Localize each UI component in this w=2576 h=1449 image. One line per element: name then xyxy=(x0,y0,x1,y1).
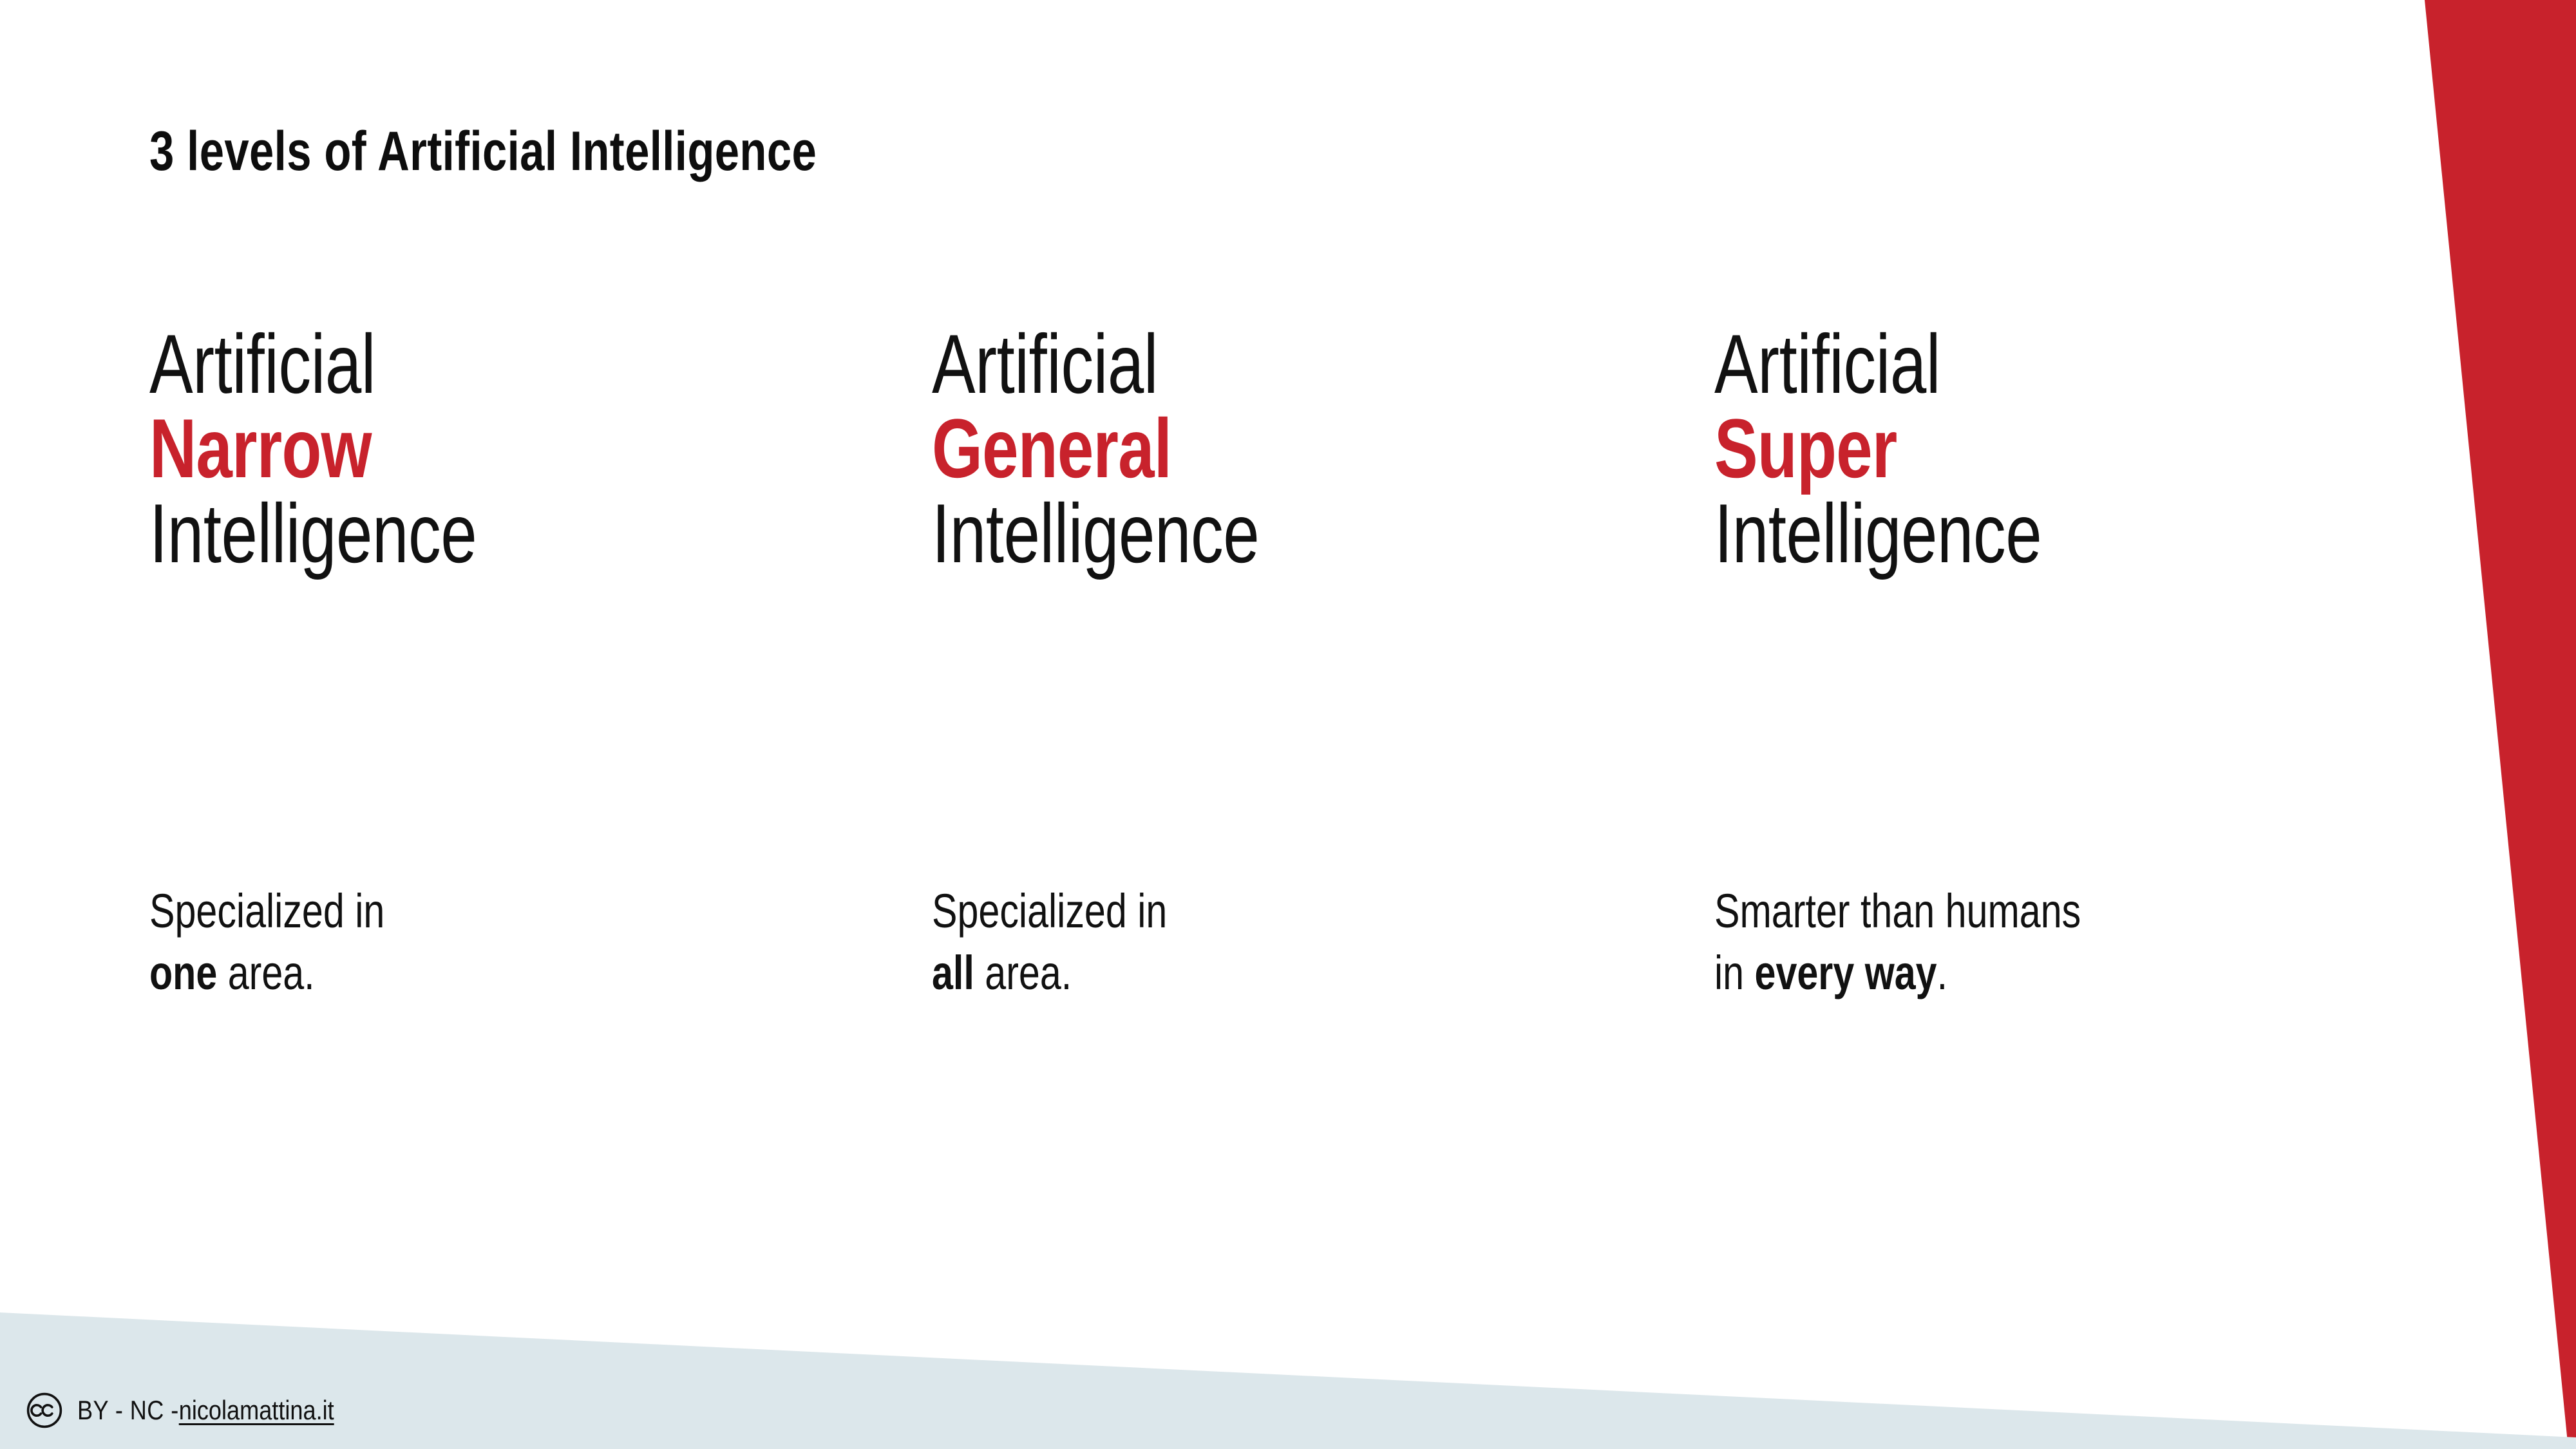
level-column-general: Artificial General Intelligence Speciali… xyxy=(932,0,1711,1449)
description-tail: area. xyxy=(217,946,314,999)
heading-line-accent: General xyxy=(932,406,1685,491)
slide-canvas: 3 levels of Artificial Intelligence Arti… xyxy=(0,0,2576,1449)
heading-line-intelligence: Intelligence xyxy=(149,491,903,576)
license-prefix: BY - NC - xyxy=(77,1395,179,1426)
heading-line-accent: Narrow xyxy=(149,406,903,491)
description-line-1: Smarter than humans xyxy=(1714,880,2539,942)
heading-line-intelligence: Intelligence xyxy=(932,491,1685,576)
heading-line-intelligence: Intelligence xyxy=(1714,491,2468,576)
level-heading: Artificial Super Intelligence xyxy=(1714,322,2468,576)
level-heading: Artificial General Intelligence xyxy=(932,322,1685,576)
level-column-super: Artificial Super Intelligence Smarter th… xyxy=(1714,0,2494,1449)
level-description: Smarter than humans in every way. xyxy=(1714,880,2539,1004)
heading-line-artificial: Artificial xyxy=(149,322,903,406)
heading-line-accent: Super xyxy=(1714,406,2468,491)
levels-columns: Artificial Narrow Intelligence Specializ… xyxy=(0,0,2576,1449)
footer-license: BY - NC - nicolamattina.it xyxy=(26,1391,376,1430)
level-description: Specialized in all area. xyxy=(932,880,1756,1004)
description-tail: . xyxy=(1937,946,1947,999)
creative-commons-icon xyxy=(26,1392,63,1429)
description-line-1: Specialized in xyxy=(932,880,1756,942)
description-line-2: one area. xyxy=(149,942,974,1004)
description-lead: in xyxy=(1714,946,1755,999)
description-line-2: all area. xyxy=(932,942,1756,1004)
description-tail: area. xyxy=(974,946,1072,999)
description-emphasis: every way xyxy=(1755,946,1937,999)
description-line-1: Specialized in xyxy=(149,880,974,942)
description-emphasis: one xyxy=(149,946,217,999)
heading-line-artificial: Artificial xyxy=(932,322,1685,406)
description-emphasis: all xyxy=(932,946,974,999)
author-site-link[interactable]: nicolamattina.it xyxy=(179,1395,334,1426)
level-description: Specialized in one area. xyxy=(149,880,974,1004)
level-column-narrow: Artificial Narrow Intelligence Specializ… xyxy=(149,0,929,1449)
heading-line-artificial: Artificial xyxy=(1714,322,2468,406)
level-heading: Artificial Narrow Intelligence xyxy=(149,322,903,576)
footer-text: BY - NC - nicolamattina.it xyxy=(77,1395,334,1426)
description-line-2: in every way. xyxy=(1714,942,2539,1004)
